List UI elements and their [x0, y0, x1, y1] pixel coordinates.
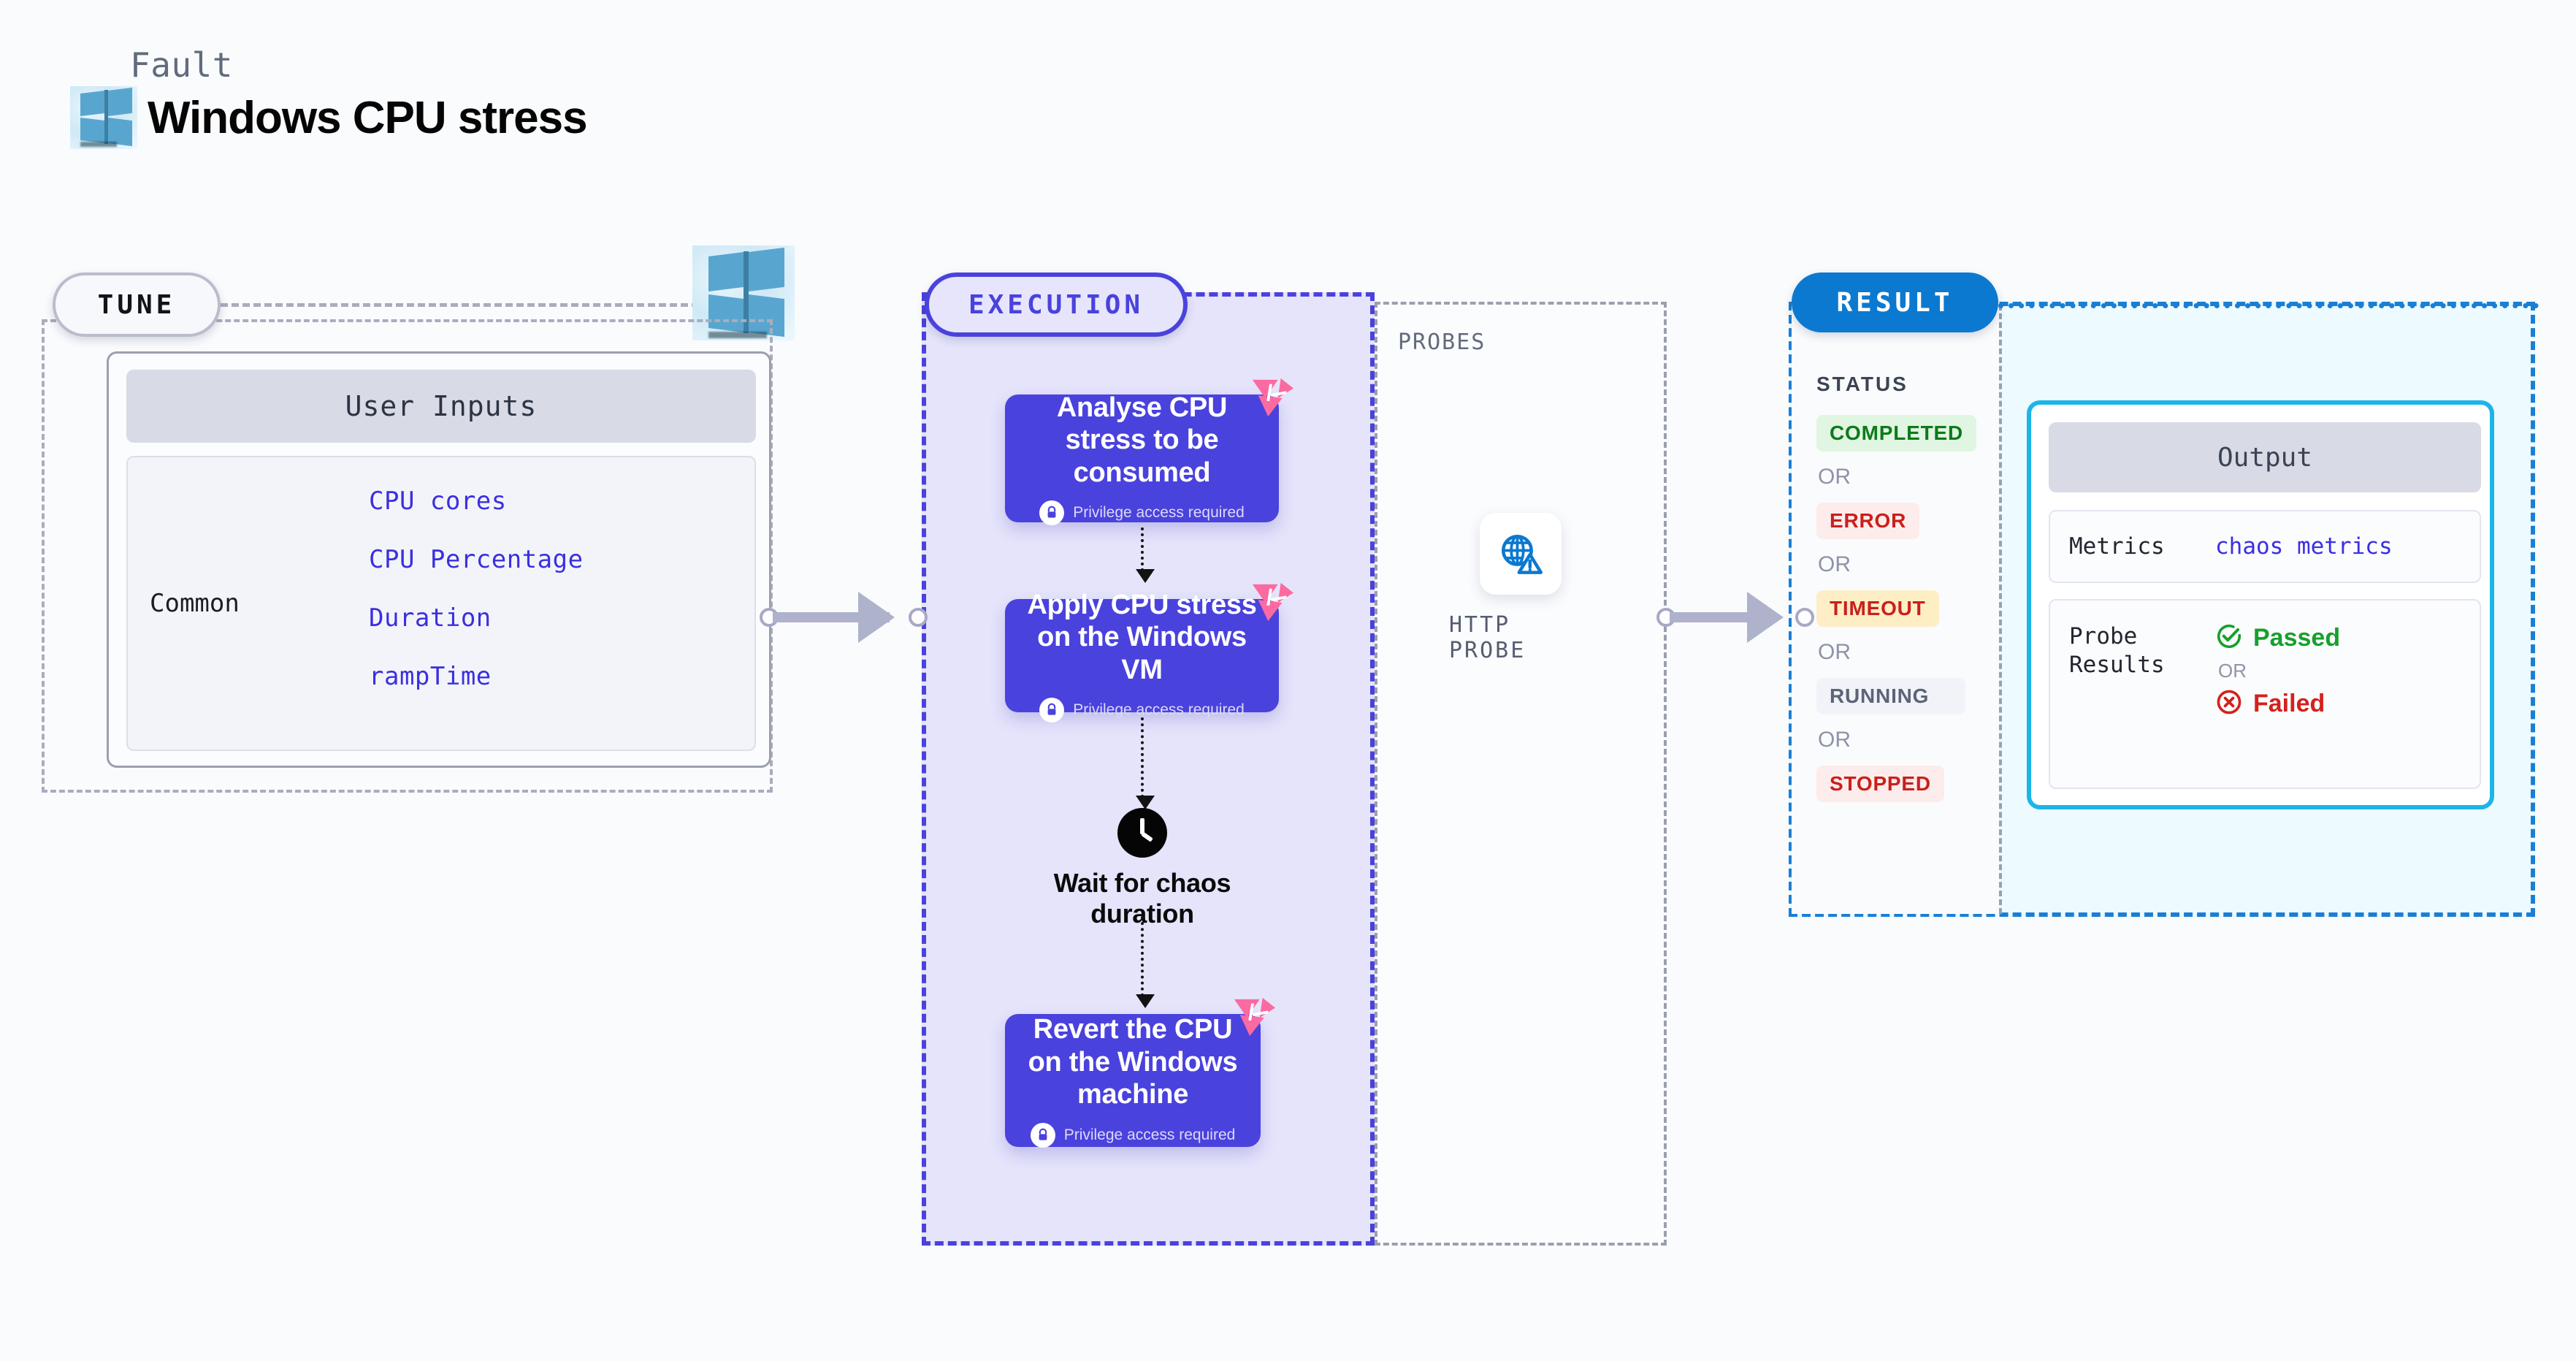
lock-icon: [1031, 1123, 1055, 1148]
status-badge-running: RUNNING: [1816, 678, 1965, 714]
status-badge-completed: COMPLETED: [1816, 415, 1976, 451]
output-metrics-row: Metrics chaos metrics: [2049, 510, 2481, 583]
common-group-label: Common: [150, 589, 240, 618]
wait-for-chaos-duration-node: Wait for chaos duration: [1036, 808, 1249, 930]
litmus-logo-icon: [1250, 582, 1295, 624]
status-badge-error: ERROR: [1816, 503, 1919, 539]
output-card: Output Metrics chaos metrics Probe Resul…: [2027, 400, 2494, 809]
litmus-logo-icon: [1250, 377, 1295, 419]
execution-node-analyse[interactable]: Analyse CPU stress to be consumed Privil…: [1005, 394, 1279, 522]
privilege-note: Privilege access required: [1039, 500, 1245, 525]
or-separator: OR: [1818, 640, 1984, 665]
diagram-canvas: Fault Windows CPU stress TUNE: [0, 0, 2576, 1361]
output-probe-results-row: Probe Results Passed OR: [2049, 599, 2481, 789]
probe-item-http[interactable]: HTTP PROBE: [1449, 513, 1592, 663]
probe-result-passed: Passed: [2215, 622, 2340, 654]
x-circle-icon: [2215, 688, 2243, 720]
metrics-key: Metrics: [2069, 533, 2215, 561]
flow-arrow-1: [1141, 527, 1144, 571]
probe-label: HTTP PROBE: [1449, 612, 1592, 663]
tune-connector-line: [221, 303, 732, 307]
user-inputs-card: User Inputs Common CPU cores CPU Percent…: [107, 351, 771, 768]
privilege-text: Privilege access required: [1073, 701, 1245, 719]
execution-node-title: Revert the CPU on the Windows machine: [1021, 1013, 1245, 1110]
or-separator: OR: [1818, 552, 1984, 577]
check-circle-icon: [2215, 622, 2243, 654]
execution-node-title: Analyse CPU stress to be consumed: [1021, 392, 1263, 489]
clock-icon: [1117, 808, 1167, 858]
lock-icon: [1039, 698, 1064, 723]
status-heading: STATUS: [1816, 373, 1984, 396]
execution-section: Analyse CPU stress to be consumed Privil…: [922, 292, 1375, 1246]
probe-results-key: Probe Results: [2069, 622, 2215, 679]
passed-label: Passed: [2253, 624, 2340, 652]
param-cpu-cores[interactable]: CPU cores: [369, 487, 734, 516]
globe-warning-icon: [1480, 513, 1562, 595]
result-section-pill[interactable]: RESULT: [1792, 272, 1998, 332]
tune-section: User Inputs Common CPU cores CPU Percent…: [42, 319, 773, 793]
result-connector-line: [1998, 303, 2539, 308]
flow-arrow-2: [1141, 717, 1144, 798]
windows-logo-icon: [70, 86, 137, 149]
probe-result-failed: Failed: [2215, 688, 2340, 720]
execution-node-title: Apply CPU stress on the Windows VM: [1021, 589, 1263, 686]
or-separator: OR: [2218, 660, 2340, 682]
probes-section: PROBES HTTP PROBE: [1375, 302, 1667, 1246]
privilege-text: Privilege access required: [1064, 1126, 1236, 1144]
result-pill-label: RESULT: [1836, 288, 1953, 318]
user-inputs-body: Common CPU cores CPU Percentage Duration…: [126, 456, 756, 751]
execution-section-pill[interactable]: EXECUTION: [925, 272, 1188, 337]
fault-kicker: Fault: [130, 45, 587, 85]
param-cpu-percentage[interactable]: CPU Percentage: [369, 545, 734, 574]
status-badge-timeout: TIMEOUT: [1816, 590, 1939, 627]
param-ramptime[interactable]: rampTime: [369, 662, 734, 691]
privilege-note: Privilege access required: [1031, 1123, 1236, 1148]
tune-section-pill[interactable]: TUNE: [53, 272, 221, 337]
metrics-value-link[interactable]: chaos metrics: [2215, 533, 2393, 560]
param-list: CPU cores CPU Percentage Duration rampTi…: [369, 487, 734, 691]
lock-icon: [1039, 500, 1064, 525]
or-separator: OR: [1818, 465, 1984, 489]
tune-pill-label: TUNE: [98, 290, 176, 320]
execution-node-apply[interactable]: Apply CPU stress on the Windows VM Privi…: [1005, 599, 1279, 712]
flow-arrow-3: [1141, 916, 1144, 996]
execution-pill-label: EXECUTION: [968, 290, 1144, 320]
result-status-divider: [1999, 305, 2002, 914]
or-separator: OR: [1818, 728, 1984, 752]
execution-node-revert[interactable]: Revert the CPU on the Windows machine Pr…: [1005, 1014, 1261, 1147]
page-title: Windows CPU stress: [148, 92, 587, 144]
litmus-logo-icon: [1231, 996, 1277, 1039]
output-title: Output: [2049, 422, 2481, 492]
user-inputs-title: User Inputs: [126, 370, 756, 443]
probe-results-values: Passed OR Failed: [2215, 622, 2340, 720]
probes-to-result-arrow: [1656, 592, 1813, 643]
privilege-text: Privilege access required: [1073, 504, 1245, 522]
param-duration[interactable]: Duration: [369, 603, 734, 633]
probes-section-label: PROBES: [1398, 329, 1486, 355]
tune-to-execution-arrow: [760, 592, 928, 643]
failed-label: Failed: [2253, 690, 2325, 718]
status-column: STATUS COMPLETED OR ERROR OR TIMEOUT OR …: [1816, 373, 1984, 802]
page-header: Fault Windows CPU stress: [70, 45, 587, 149]
status-badge-stopped: STOPPED: [1816, 766, 1944, 802]
